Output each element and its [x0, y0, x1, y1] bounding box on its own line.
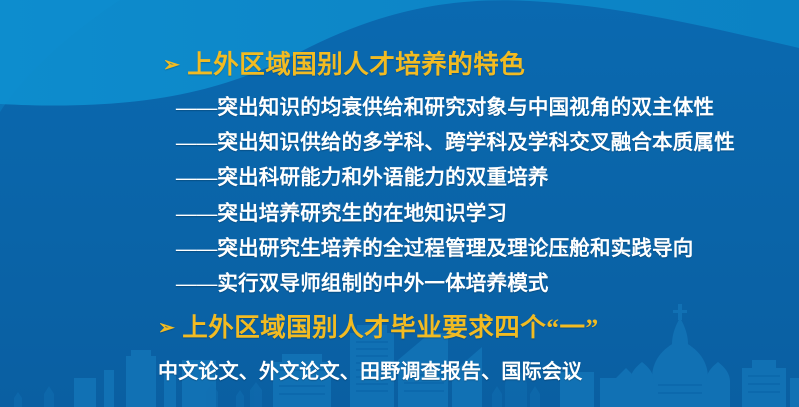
section-heading-1-text: 上外区域国别人才培养的特色: [187, 44, 525, 81]
bullet-line-3: ——突出科研能力和外语能力的双重培养: [176, 160, 549, 190]
arrow-bullet-icon: ➢: [163, 55, 180, 75]
section-heading-2: ➢ 上外区域国别人才毕业要求四个“一”: [158, 307, 599, 344]
arrow-bullet-icon: ➢: [158, 318, 175, 338]
bullet-line-2: ——突出知识供给的多学科、跨学科及学科交叉融合本质属性: [176, 125, 735, 155]
section-2-footer-text: 中文论文、外文论文、田野调查报告、国际会议: [158, 355, 582, 384]
bullet-line-1: ——突出知识的均衰供给和研究对象与中国视角的双主体性: [176, 90, 714, 120]
section-heading-2-text: 上外区域国别人才毕业要求四个“一”: [182, 307, 599, 344]
section-heading-1: ➢ 上外区域国别人才培养的特色: [163, 44, 525, 81]
bullet-line-6: ——实行双导师组制的中外一体培养模式: [176, 266, 549, 296]
presentation-slide: ➢ 上外区域国别人才培养的特色 ——突出知识的均衰供给和研究对象与中国视角的双主…: [0, 0, 799, 407]
bullet-line-5: ——突出研究生培养的全过程管理及理论压舱和实践导向: [176, 231, 694, 261]
bullet-line-4: ——突出培养研究生的在地知识学习: [176, 196, 507, 226]
